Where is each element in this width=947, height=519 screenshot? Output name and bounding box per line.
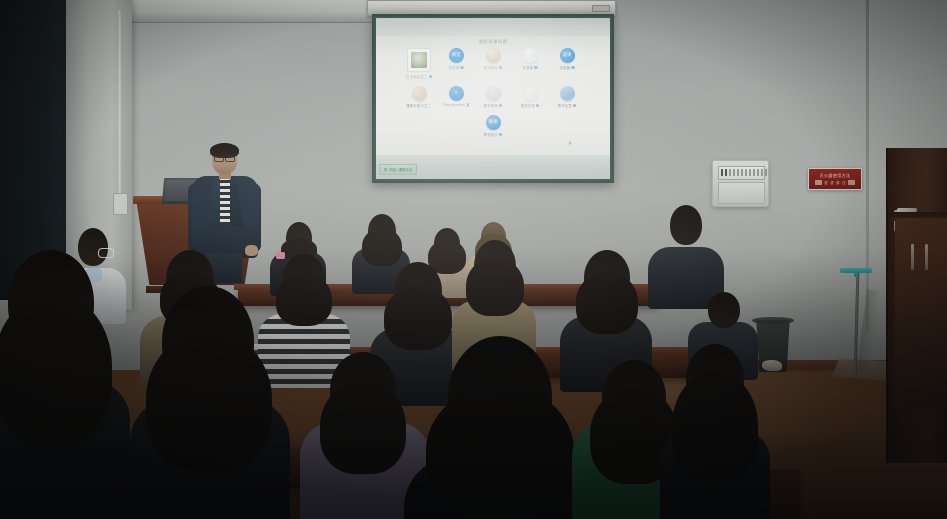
icon-row-3: 微课 教学设计 xyxy=(386,115,600,137)
icon-label: 作品集 xyxy=(559,65,570,70)
photo-thumb-icon xyxy=(407,48,431,72)
badge-icon xyxy=(534,66,537,69)
slide-icon-item[interactable]: 微课 教学设计 xyxy=(480,115,506,137)
badge-icon xyxy=(429,75,432,78)
audience-member xyxy=(130,286,290,519)
icon-label: 教学设计 xyxy=(484,132,498,137)
badge-icon xyxy=(499,104,502,107)
app-disc-icon: 课堂 xyxy=(449,48,464,63)
safety-sign: 灭火器使用方法 提 · 拔 · 握 · 压 xyxy=(808,168,862,190)
sign-steps: 提 · 拔 · 握 · 压 xyxy=(824,180,845,185)
app-disc-icon xyxy=(486,48,501,63)
slide-icon-item[interactable]: 成果 作品集 xyxy=(554,48,580,79)
app-disc-icon: 成果 xyxy=(560,48,575,63)
projection-screen: 课程资源列表 三十六计之二 课堂 古诗词 学习中心 xyxy=(372,14,614,183)
wooden-cabinet[interactable] xyxy=(895,218,947,408)
slide-top-band xyxy=(376,18,610,36)
slide-icon-item[interactable]: 三十六计之二 xyxy=(406,48,432,79)
audience-member xyxy=(0,250,130,519)
slide-icon-item[interactable]: 课程与练习之二 xyxy=(406,86,432,108)
app-disc-icon: 微课 xyxy=(486,115,501,130)
breaker-switches xyxy=(721,169,767,176)
door-handle-icon[interactable] xyxy=(897,208,917,212)
slide-title: 课程资源列表 xyxy=(376,39,610,45)
slide-icon-grid: 三十六计之二 课堂 古诗词 学习中心 资源库 成果 xyxy=(386,48,600,144)
icon-label: 课堂实录 xyxy=(521,103,535,108)
app-disc-icon xyxy=(486,86,501,101)
icon-row-2: 课程与练习之二 T This moment, 教学案例 课堂实录 xyxy=(386,86,600,108)
app-disc-icon xyxy=(523,86,538,101)
icon-label: 教学案例 xyxy=(484,103,498,108)
taskbar-start-tag[interactable]: 开始 / 课程平台 xyxy=(379,164,417,175)
sign-title: 灭火器使用方法 xyxy=(820,173,851,179)
icon-label: 古诗词 xyxy=(448,65,459,70)
projection-surface: 课程资源列表 三十六计之二 课堂 古诗词 学习中心 xyxy=(376,18,610,179)
icon-label: 课程与练习之二 xyxy=(406,103,431,108)
icon-row-1: 三十六计之二 课堂 古诗词 学习中心 资源库 成果 xyxy=(386,48,600,79)
app-disc-icon xyxy=(523,48,538,63)
eyeglasses-icon xyxy=(214,155,235,160)
badge-icon xyxy=(571,66,574,69)
panel-breaker-window xyxy=(718,166,765,180)
housing-endcap xyxy=(592,5,610,12)
slide-icon-item[interactable]: 课堂 古诗词 xyxy=(443,48,469,79)
mop-head-icon xyxy=(840,268,872,273)
start-square-icon xyxy=(384,168,387,171)
badge-icon xyxy=(499,66,502,69)
wall-conduit xyxy=(118,10,122,210)
taskbar-label: 开始 / 课程平台 xyxy=(389,167,412,172)
panel-cover xyxy=(718,182,765,204)
icon-label: This moment, xyxy=(443,103,466,107)
wall-seam xyxy=(866,0,869,330)
icon-label: 资源库 xyxy=(522,65,533,70)
app-disc-icon: T xyxy=(449,86,464,101)
app-disc-icon xyxy=(560,86,575,101)
slide-icon-item[interactable]: 课堂实录 xyxy=(517,86,543,108)
audience-member xyxy=(660,344,770,519)
lecture-hall-photo: 课程资源列表 三十六计之二 课堂 古诗词 学习中心 xyxy=(0,0,947,519)
slide-icon-item[interactable]: T This moment, xyxy=(443,86,469,108)
badge-icon xyxy=(499,133,502,136)
app-disc-icon xyxy=(412,86,427,101)
conduit-junction-box xyxy=(113,193,128,215)
badge-icon xyxy=(467,103,469,106)
presenter-hand xyxy=(245,245,258,256)
icon-label: 三十六计之二 xyxy=(406,74,428,79)
electrical-panel xyxy=(712,160,769,207)
slide-icon-item[interactable]: 教学案例 xyxy=(480,86,506,108)
badge-icon xyxy=(460,66,463,69)
sign-pictograms: 提 · 拔 · 握 · 压 xyxy=(815,180,854,185)
badge-icon xyxy=(573,104,576,107)
audience-member xyxy=(404,336,594,519)
icon-label: 教学反思 xyxy=(558,103,572,108)
badge-icon xyxy=(536,104,539,107)
audience-member xyxy=(648,205,724,305)
slide-icon-item[interactable]: 教学反思 xyxy=(554,86,580,108)
icon-label: 学习中心 xyxy=(484,65,498,70)
slide-icon-item[interactable]: 资源库 xyxy=(517,48,543,79)
slide-icon-item[interactable]: 学习中心 xyxy=(480,48,506,79)
